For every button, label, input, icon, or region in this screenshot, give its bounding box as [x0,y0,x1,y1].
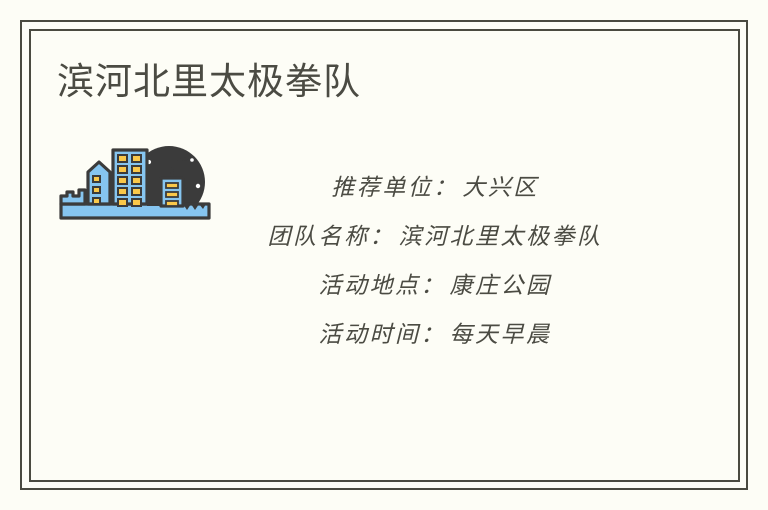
info-value: 滨河北里太极拳队 [399,224,603,249]
info-separator: ： [370,224,399,249]
info-row-activity-location: 活动地点：康庄公园 [225,261,645,310]
info-value: 大兴区 [462,175,539,200]
info-label: 活动时间 [319,322,421,347]
info-value: 康庄公园 [450,273,552,298]
info-row-team-name: 团队名称：滨河北里太极拳队 [225,212,645,261]
info-label: 推荐单位 [331,175,433,200]
info-row-activity-time: 活动时间：每天早晨 [225,310,645,359]
night-city-icon [57,146,213,222]
info-card: 滨河北里太极拳队 [0,0,768,510]
info-separator: ： [433,175,462,200]
info-separator: ： [421,273,450,298]
info-row-recommending-unit: 推荐单位：大兴区 [225,163,645,212]
info-label: 团队名称 [268,224,370,249]
page-title: 滨河北里太极拳队 [57,58,361,106]
info-list: 推荐单位：大兴区 团队名称：滨河北里太极拳队 活动地点：康庄公园 活动时间：每天… [225,163,645,359]
info-value: 每天早晨 [450,322,552,347]
info-separator: ： [421,322,450,347]
info-label: 活动地点 [319,273,421,298]
